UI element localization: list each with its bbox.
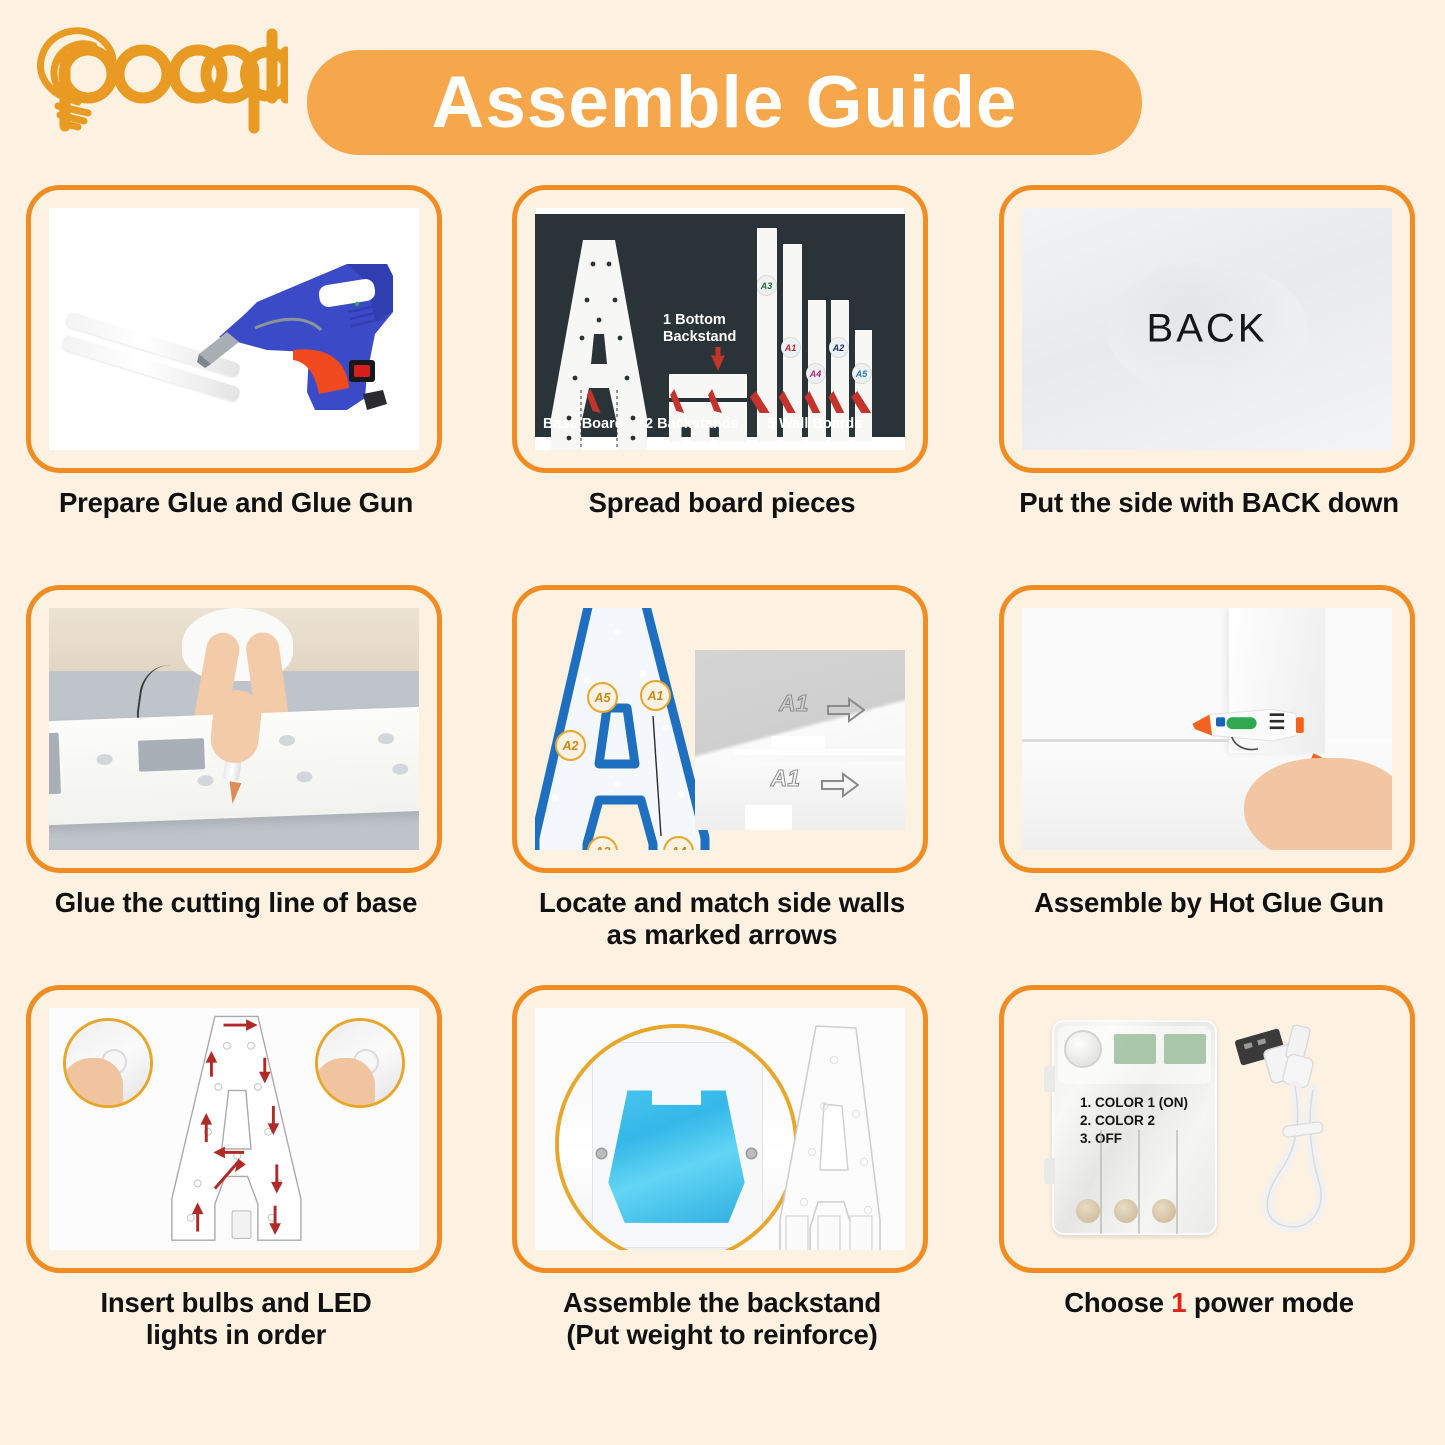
battery-cell-divider bbox=[1100, 1130, 1102, 1234]
panel-assemble-hot-glue bbox=[999, 585, 1415, 873]
power-mode-option-2: 2. COLOR 2 bbox=[1080, 1112, 1188, 1130]
step-card-back-side-down: BACK Put the side with BACK down bbox=[999, 185, 1419, 519]
step-caption-back-side-down: Put the side with BACK down bbox=[999, 487, 1419, 519]
caption-line-1: Assemble the backstand bbox=[563, 1287, 881, 1318]
step-caption-insert-bulbs: Insert bulbs and LED lights in order bbox=[26, 1287, 446, 1352]
step-caption-assemble-backstand: Assemble the backstand (Put weight to re… bbox=[512, 1287, 932, 1352]
step-card-locate-side-walls: A2 A5 A1 A3 A4 A1 bbox=[512, 585, 932, 952]
steps-row-1: Prepare Glue and Glue Gun bbox=[0, 185, 1445, 585]
caption-highlight-number: 1 bbox=[1171, 1287, 1186, 1318]
step-caption-choose-power-mode: Choose 1 power mode bbox=[999, 1287, 1419, 1319]
caption-line-1: Locate and match side walls bbox=[539, 887, 905, 918]
letter-a-outline-icon bbox=[535, 608, 715, 850]
circuit-board bbox=[1114, 1034, 1156, 1064]
cut-mark bbox=[49, 734, 61, 795]
step-card-prepare-glue: Prepare Glue and Glue Gun bbox=[26, 185, 446, 519]
locate-walls-illustration: A2 A5 A1 A3 A4 A1 bbox=[535, 608, 905, 850]
panel-locate-side-walls: A2 A5 A1 A3 A4 A1 bbox=[512, 585, 928, 873]
battery-box-latch bbox=[1044, 1066, 1055, 1092]
panel-prepare-glue bbox=[26, 185, 442, 473]
piece-chip-a5: A5 bbox=[852, 364, 871, 383]
a1-arrow-mark-upper: A1 bbox=[779, 690, 808, 717]
pooqla-logo-icon bbox=[18, 16, 288, 136]
step-caption-glue-cutting-line: Glue the cutting line of base bbox=[26, 887, 446, 919]
hot-glue-photo bbox=[1022, 608, 1392, 850]
power-mode-option-1: 1. COLOR 1 (ON) bbox=[1080, 1094, 1188, 1112]
panel-image-assemble-backstand bbox=[535, 1008, 905, 1250]
battery-cell-divider bbox=[1176, 1130, 1178, 1234]
caption-suffix: power mode bbox=[1186, 1287, 1353, 1318]
arrow-right-icon bbox=[821, 772, 859, 798]
piece-pointer-arrows-icon bbox=[535, 389, 905, 419]
screw-icon bbox=[747, 1149, 756, 1158]
power-mode-illustration: 1. COLOR 1 (ON) 2. COLOR 2 3. OFF bbox=[1022, 1008, 1392, 1250]
page-title-pill: Assemble Guide bbox=[307, 50, 1142, 155]
bulb-hole bbox=[296, 772, 312, 784]
panel-image-locate-side-walls: A2 A5 A1 A3 A4 A1 bbox=[535, 608, 905, 850]
panel-image-glue-cutting-line bbox=[49, 608, 419, 850]
battery-cell-icon bbox=[1076, 1199, 1100, 1223]
step-caption-prepare-glue: Prepare Glue and Glue Gun bbox=[26, 487, 446, 519]
caption-line-2: (Put weight to reinforce) bbox=[566, 1319, 877, 1350]
arrow-right-icon bbox=[827, 697, 865, 723]
circuit-board bbox=[1164, 1034, 1206, 1064]
usb-cable-icon bbox=[1227, 1020, 1392, 1238]
panel-image-back-side-down: BACK bbox=[1022, 208, 1392, 450]
caption-line-2: as marked arrows bbox=[607, 919, 838, 950]
side-wall-photo: A1 A1 bbox=[695, 650, 905, 830]
screw-icon bbox=[597, 1149, 606, 1158]
piece-chip-a4: A4 bbox=[806, 364, 825, 383]
inset-photo-insert-bulb bbox=[63, 1018, 153, 1108]
panel-image-spread-board-pieces: 1 Bottom Backstand bbox=[535, 208, 905, 450]
steps-grid: Prepare Glue and Glue Gun bbox=[0, 185, 1445, 1445]
callout-arrow-icon bbox=[711, 347, 725, 371]
step-card-choose-power-mode: 1. COLOR 1 (ON) 2. COLOR 2 3. OFF bbox=[999, 985, 1419, 1319]
inset-photo-twist-bulb bbox=[315, 1018, 405, 1108]
a1-arrow-mark-lower: A1 bbox=[771, 765, 800, 792]
panel-back-side-down: BACK bbox=[999, 185, 1415, 473]
bottom-backstand-callout-line2: Backstand bbox=[663, 329, 736, 345]
step-caption-spread-board-pieces: Spread board pieces bbox=[512, 487, 932, 519]
panel-choose-power-mode: 1. COLOR 1 (ON) 2. COLOR 2 3. OFF bbox=[999, 985, 1415, 1273]
panel-image-insert-bulbs bbox=[49, 1008, 419, 1250]
step-card-spread-board-pieces: 1 Bottom Backstand bbox=[512, 185, 932, 519]
diagram-label-base-board: Base Board bbox=[543, 416, 624, 432]
glue-gun-icon bbox=[197, 242, 419, 432]
panel-image-prepare-glue bbox=[49, 208, 419, 450]
page-title: Assemble Guide bbox=[431, 66, 1017, 139]
power-switch-knob-icon[interactable] bbox=[1066, 1032, 1100, 1066]
glue-gun-illustration bbox=[49, 208, 419, 450]
marker-a5: A5 bbox=[587, 682, 618, 713]
backstand-illustration bbox=[535, 1008, 905, 1250]
caption-line-1: Insert bulbs and LED bbox=[100, 1287, 371, 1318]
step-caption-assemble-hot-glue: Assemble by Hot Glue Gun bbox=[999, 887, 1419, 919]
hot-glue-gun-icon bbox=[1163, 695, 1333, 758]
person-hand bbox=[315, 1058, 375, 1108]
piece-chip-a1: A1 bbox=[781, 338, 800, 357]
battery-box-latch bbox=[1044, 1158, 1055, 1184]
bulb-hole bbox=[378, 733, 394, 745]
panel-spread-board-pieces: 1 Bottom Backstand bbox=[512, 185, 928, 473]
marker-a2: A2 bbox=[555, 730, 586, 761]
steps-row-2: Glue the cutting line of base bbox=[0, 585, 1445, 985]
piece-chip-a2: A2 bbox=[829, 338, 848, 357]
steps-row-3: Insert bulbs and LED lights in order bbox=[0, 985, 1445, 1445]
diagram-label-wall-boards: 5 Wall Boards bbox=[767, 416, 862, 432]
white-board-surface: BACK bbox=[1022, 208, 1392, 450]
cut-mark bbox=[138, 738, 205, 772]
person-hand bbox=[1244, 758, 1392, 850]
battery-box: 1. COLOR 1 (ON) 2. COLOR 2 3. OFF bbox=[1052, 1020, 1217, 1235]
glue-base-photo bbox=[49, 608, 419, 850]
lower-board bbox=[695, 762, 905, 830]
battery-cell-icon bbox=[1114, 1199, 1138, 1223]
brand-logo bbox=[18, 16, 288, 136]
bulb-order-illustration bbox=[49, 1008, 419, 1250]
panel-image-choose-power-mode: 1. COLOR 1 (ON) 2. COLOR 2 3. OFF bbox=[1022, 1008, 1392, 1250]
panel-assemble-backstand bbox=[512, 985, 928, 1273]
caption-prefix: Choose bbox=[1064, 1287, 1171, 1318]
panel-insert-bulbs bbox=[26, 985, 442, 1273]
bulb-hole bbox=[197, 776, 213, 788]
step-card-assemble-hot-glue: Assemble by Hot Glue Gun bbox=[999, 585, 1419, 919]
person-hand bbox=[63, 1058, 123, 1108]
step-card-glue-cutting-line: Glue the cutting line of base bbox=[26, 585, 446, 919]
bulb-hole bbox=[278, 735, 294, 747]
tab-notch bbox=[771, 736, 826, 748]
battery-box-instructions: 1. COLOR 1 (ON) 2. COLOR 2 3. OFF bbox=[1080, 1094, 1188, 1147]
step-caption-locate-side-walls: Locate and match side walls as marked ar… bbox=[512, 887, 932, 952]
board-edge bbox=[733, 749, 905, 755]
inset-oval-water-bag bbox=[555, 1024, 798, 1250]
page-header: Assemble Guide bbox=[0, 0, 1445, 180]
bulb-hole bbox=[97, 754, 113, 766]
board-pieces-diagram: 1 Bottom Backstand bbox=[535, 214, 905, 437]
caption-line-2: lights in order bbox=[146, 1319, 326, 1350]
marker-a1: A1 bbox=[640, 680, 671, 711]
diagram-label-backstands: 2 Backstands bbox=[645, 416, 739, 432]
tab-notch bbox=[745, 805, 791, 830]
piece-chip-a3: A3 bbox=[757, 276, 776, 295]
step-card-assemble-backstand: Assemble the backstand (Put weight to re… bbox=[512, 985, 932, 1352]
letter-a-template-icon bbox=[153, 1013, 323, 1245]
panel-glue-cutting-line bbox=[26, 585, 442, 873]
back-label-text: BACK bbox=[1147, 307, 1268, 352]
bulb-hole bbox=[392, 764, 408, 776]
battery-cell-icon bbox=[1152, 1199, 1176, 1223]
bottom-backstand-callout-line1: 1 Bottom bbox=[663, 312, 726, 328]
letter-a-side-view-icon bbox=[764, 1022, 889, 1250]
power-mode-option-3: 3. OFF bbox=[1080, 1130, 1188, 1148]
battery-cell-divider bbox=[1138, 1130, 1140, 1234]
step-card-insert-bulbs: Insert bulbs and LED lights in order bbox=[26, 985, 446, 1352]
panel-image-assemble-hot-glue bbox=[1022, 608, 1392, 850]
